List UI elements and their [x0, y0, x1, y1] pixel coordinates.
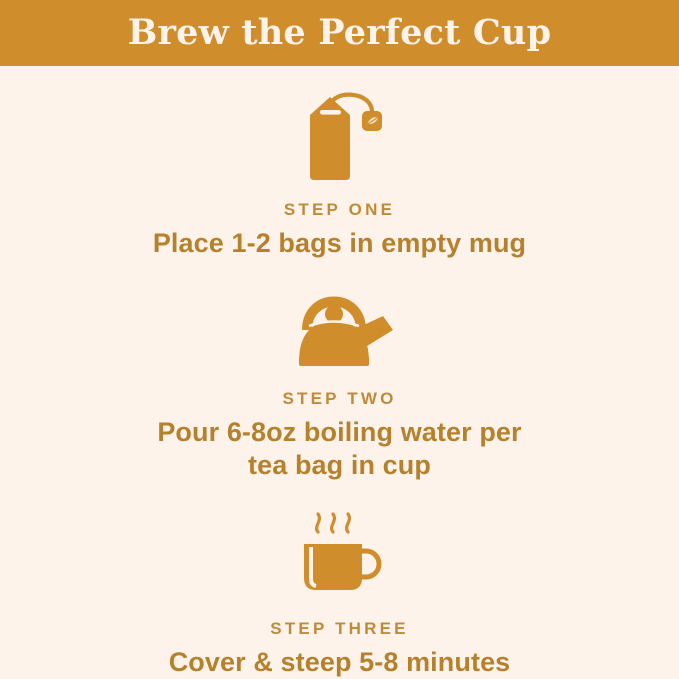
step-item: STEP ONE Place 1-2 bags in empty mug [0, 80, 679, 260]
page-title: Brew the Perfect Cup [128, 15, 552, 52]
step-description: Place 1-2 bags in empty mug [153, 227, 526, 260]
steps-list: STEP ONE Place 1-2 bags in empty mug [0, 66, 679, 679]
brew-guide-infographic: Brew the Perfect Cup STEP ONE [0, 0, 679, 679]
step-description: Cover & steep 5-8 minutes [169, 646, 511, 679]
step-item: STEP THREE Cover & steep 5-8 minutes [0, 482, 679, 679]
step-description-line: Place 1-2 bags in empty mug [153, 227, 526, 260]
tea-bag-icon [286, 86, 394, 184]
step-description-line: tea bag in cup [157, 449, 521, 482]
step-label: STEP TWO [282, 390, 396, 407]
step-label: STEP ONE [284, 201, 395, 218]
step-description-line: Pour 6-8oz boiling water per [157, 416, 521, 449]
kettle-icon [279, 282, 401, 368]
step-description-line: Cover & steep 5-8 minutes [169, 646, 511, 679]
step-description: Pour 6-8oz boiling water per tea bag in … [157, 416, 521, 482]
header-band: Brew the Perfect Cup [0, 0, 679, 66]
steaming-mug-icon [286, 506, 394, 596]
step-label: STEP THREE [270, 620, 408, 637]
step-item: STEP TWO Pour 6-8oz boiling water per te… [0, 260, 679, 482]
